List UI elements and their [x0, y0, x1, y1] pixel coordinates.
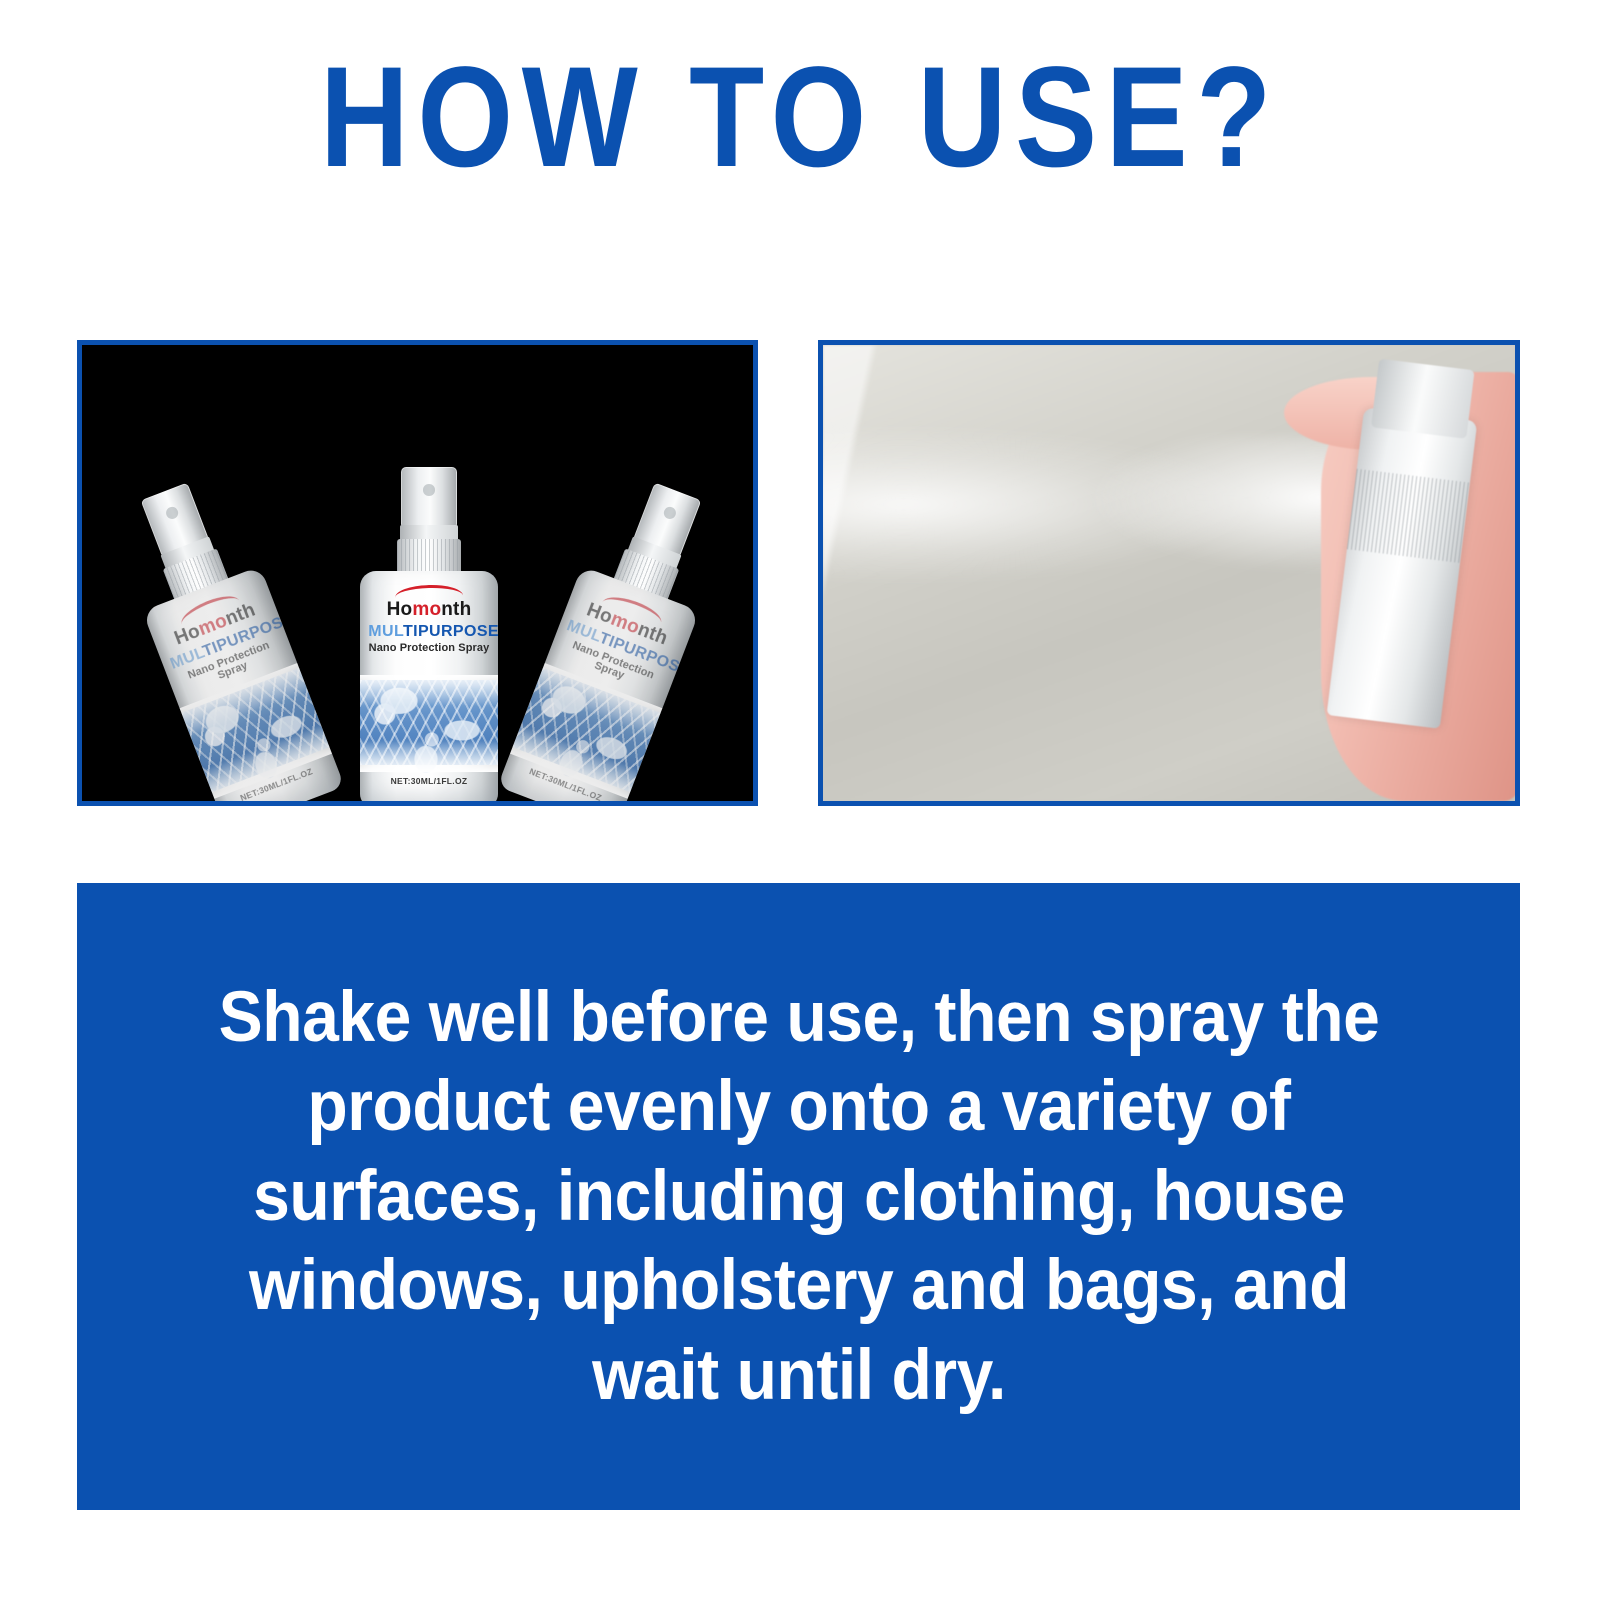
- nano-fade-bottom: [360, 741, 498, 772]
- logo-swoosh-icon: [395, 584, 463, 600]
- brand-prefix: Ho: [387, 599, 413, 620]
- nano-fade-top: [360, 675, 498, 706]
- brand-accent: mo: [412, 599, 441, 620]
- usage-photo-right: [818, 340, 1520, 806]
- spray-bottle-left: Homonth MULTIPURPOSE Nano Protection Spr…: [119, 506, 344, 801]
- bottle-body: Homonth MULTIPURPOSE Nano Protection Spr…: [497, 566, 699, 801]
- product-line: MULTIPURPOSE: [368, 624, 489, 640]
- brand-name: Homonth: [368, 600, 489, 619]
- instruction-text: Shake well before use, then spray the pr…: [180, 973, 1417, 1420]
- product-subtitle: Nano Protection Spray: [368, 643, 489, 654]
- bottle-cap-icon: [401, 467, 456, 529]
- net-content: NET:30ML/1FL.OZ: [360, 776, 498, 786]
- instruction-panel: Shake well before use, then spray the pr…: [77, 883, 1520, 1510]
- product-line-suffix: TIPURPOSE: [403, 623, 498, 640]
- bottle-body: Homonth MULTIPURPOSE Nano Protection Spr…: [360, 571, 498, 801]
- brand-suffix: nth: [441, 599, 471, 620]
- bottle-ribs: [1347, 469, 1470, 563]
- product-line-prefix: MUL: [368, 623, 403, 640]
- spray-bottle-right: Homonth MULTIPURPOSE Nano Protection Spr…: [497, 506, 722, 801]
- bottle-body: Homonth MULTIPURPOSE Nano Protection Spr…: [142, 566, 344, 801]
- bottle-nozzle-icon: [1372, 359, 1476, 438]
- page-title: HOW TO USE?: [112, 46, 1488, 189]
- product-photo-left-inner: Homonth MULTIPURPOSE Nano Protection Spr…: [82, 345, 753, 801]
- bottle-label: Homonth MULTIPURPOSE Nano Protection Spr…: [368, 585, 489, 654]
- product-photo-left: Homonth MULTIPURPOSE Nano Protection Spr…: [77, 340, 758, 806]
- photo-row: Homonth MULTIPURPOSE Nano Protection Spr…: [77, 340, 1520, 806]
- usage-photo-right-inner: [823, 345, 1515, 801]
- spray-bottle-center: Homonth MULTIPURPOSE Nano Protection Spr…: [360, 477, 498, 801]
